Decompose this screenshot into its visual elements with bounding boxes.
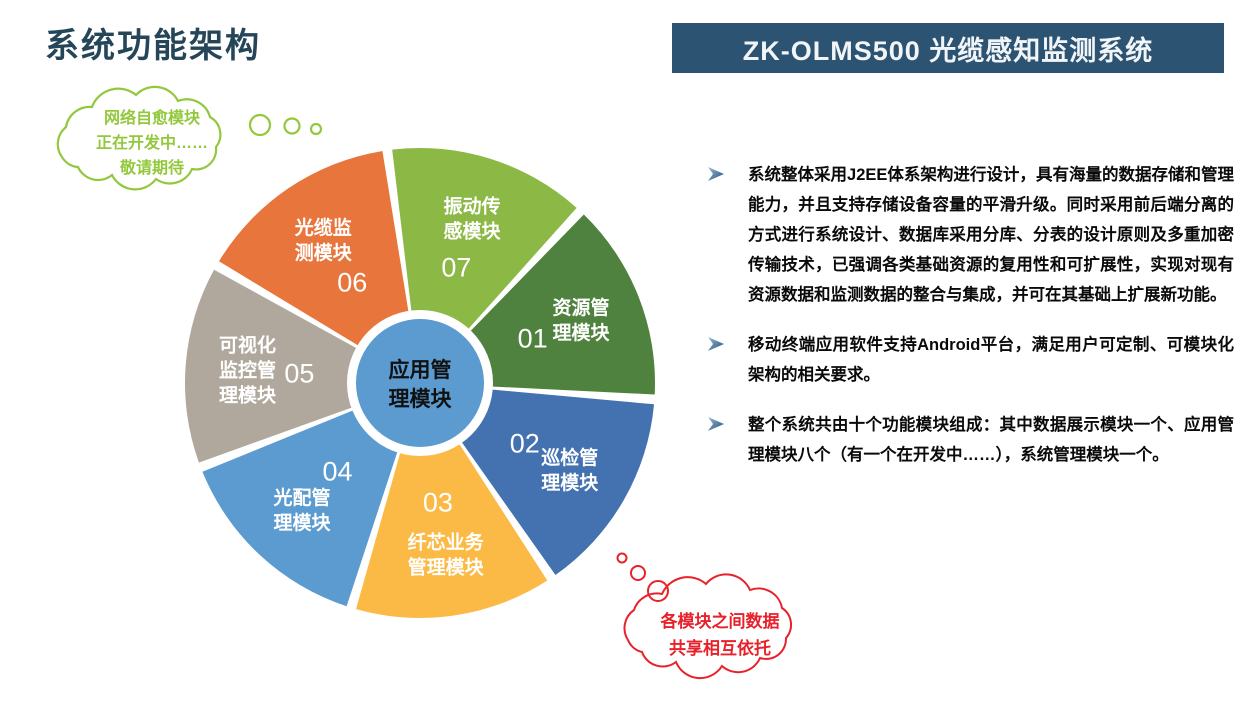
segment-label-01-line-1: 资源管 — [552, 296, 609, 319]
segment-label-07-line-1: 振动传 — [443, 195, 500, 218]
segment-number-05: 05 — [284, 359, 314, 389]
segment-label-07-line-2: 感模块 — [443, 220, 501, 243]
bullet-arrow-icon — [706, 160, 748, 187]
segment-number-01: 01 — [518, 324, 548, 354]
segment-number-06: 06 — [337, 268, 367, 298]
segment-label-06-line-2: 测模块 — [295, 241, 353, 264]
segment-label-03-line-2: 管理模块 — [408, 556, 485, 579]
segment-label-03-line-1: 纤芯业务 — [408, 531, 485, 554]
page-title: 系统功能架构 — [45, 18, 261, 67]
bullet-text: 移动终端应用软件支持Android平台，满足用户可定制、可模块化架构的相关要求。 — [748, 330, 1234, 390]
red-cloud-line-2: 共享相互依托 — [625, 635, 815, 662]
center-label-line-2: 理模块 — [389, 387, 453, 411]
segment-label-04-line-1: 光配管 — [272, 486, 330, 509]
segment-label-01-line-2: 理模块 — [552, 321, 610, 344]
bullet-item: 整个系统共由十个功能模块组成：其中数据展示模块一个、应用管理模块八个（有一个在开… — [706, 410, 1234, 470]
red-cloud-text: 各模块之间数据 共享相互依托 — [625, 608, 815, 662]
segment-number-02: 02 — [510, 429, 540, 459]
segment-number-03: 03 — [423, 488, 453, 518]
bullet-item: 移动终端应用软件支持Android平台，满足用户可定制、可模块化架构的相关要求。 — [706, 330, 1234, 390]
bullet-item: 系统整体采用J2EE体系架构进行设计，具有海量的数据存储和管理能力，并且支持存储… — [706, 160, 1234, 310]
segment-label-05-line-2: 监控管 — [219, 358, 276, 381]
segment-label-02-line-2: 理模块 — [541, 471, 599, 494]
bullet-text: 整个系统共由十个功能模块组成：其中数据展示模块一个、应用管理模块八个（有一个在开… — [748, 410, 1234, 470]
banner: ZK-OLMS500 光缆感知监测系统 — [672, 23, 1224, 73]
segment-label-02-line-1: 巡检管 — [541, 446, 598, 469]
center-label-line-1: 应用管 — [389, 358, 452, 382]
segment-label-06-line-1: 光缆监 — [294, 216, 352, 239]
bullet-text: 系统整体采用J2EE体系架构进行设计，具有海量的数据存储和管理能力，并且支持存储… — [748, 160, 1234, 310]
donut-center-circle[interactable] — [356, 319, 484, 447]
banner-title: ZK-OLMS500 光缆感知监测系统 — [743, 29, 1154, 68]
segment-number-07: 07 — [441, 253, 471, 283]
bullet-list: 系统整体采用J2EE体系架构进行设计，具有海量的数据存储和管理能力，并且支持存储… — [706, 160, 1234, 490]
segment-label-05-line-3: 理模块 — [219, 383, 277, 406]
segment-label-04-line-2: 理模块 — [273, 511, 331, 534]
red-cloud-line-1: 各模块之间数据 — [625, 608, 815, 635]
bullet-arrow-icon — [706, 410, 748, 437]
segment-number-04: 04 — [322, 457, 352, 487]
segment-label-05-line-1: 可视化 — [219, 333, 276, 356]
bullet-arrow-icon — [706, 330, 748, 357]
